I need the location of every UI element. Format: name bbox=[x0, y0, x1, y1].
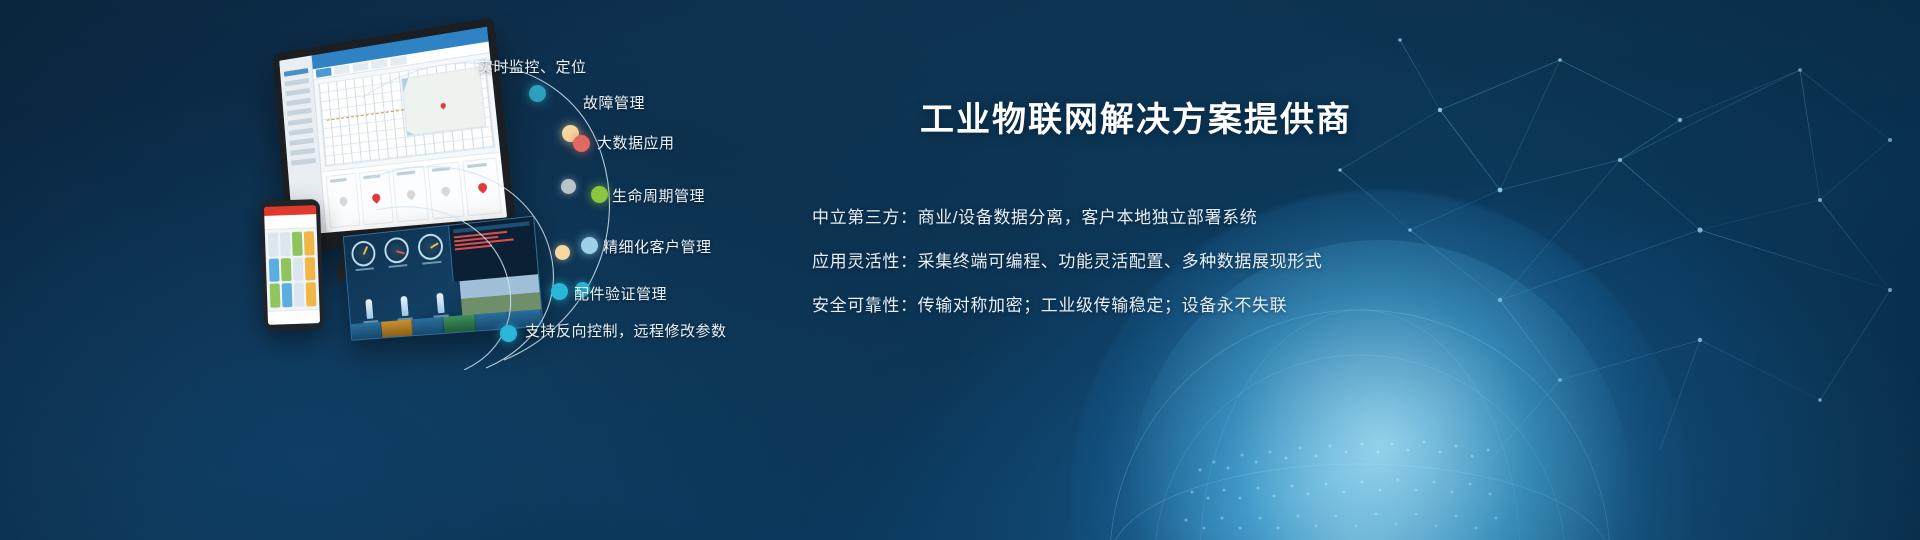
orbit-dot-yellow bbox=[555, 245, 570, 260]
iot-solution-banner: 实时监控、定位 故障管理 大数据应用 生命周期管理 精细化客户管理 配件验证管理… bbox=[0, 0, 1920, 540]
feature-node-3[interactable] bbox=[591, 186, 608, 203]
feature-label-5: 配件验证管理 bbox=[574, 283, 667, 304]
feature-label-4: 精细化客户管理 bbox=[603, 236, 712, 257]
feature-label-2: 大数据应用 bbox=[597, 132, 675, 153]
feature-label-6: 支持反向控制，远程修改参数 bbox=[525, 320, 727, 341]
bullet-item: 安全可靠性：传输对称加密；工业级传输稳定；设备永不失联 bbox=[812, 291, 1512, 316]
feature-node-5[interactable] bbox=[551, 283, 568, 300]
page-title: 工业物联网解决方案提供商 bbox=[812, 92, 1352, 141]
feature-label-3: 生命周期管理 bbox=[612, 185, 705, 206]
feature-node-4[interactable] bbox=[581, 237, 598, 254]
feature-label-1: 故障管理 bbox=[583, 92, 645, 113]
feature-label-0: 实时监控、定位 bbox=[478, 56, 587, 77]
bullet-item: 应用灵活性：采集终端可编程、功能灵活配置、多种数据展现形式 bbox=[812, 247, 1512, 272]
feature-node-6[interactable] bbox=[500, 325, 517, 342]
bullet-item: 中立第三方：商业/设备数据分离，客户本地独立部署系统 bbox=[812, 203, 1512, 228]
bullet-list: 中立第三方：商业/设备数据分离，客户本地独立部署系统 应用灵活性：采集终端可编程… bbox=[812, 203, 1512, 316]
feature-node-2[interactable] bbox=[573, 135, 590, 152]
right-text-block: 工业物联网解决方案提供商 中立第三方：商业/设备数据分离，客户本地独立部署系统 … bbox=[812, 92, 1512, 335]
feature-node-0[interactable] bbox=[529, 85, 546, 102]
orbit-dot-grey bbox=[561, 179, 576, 194]
